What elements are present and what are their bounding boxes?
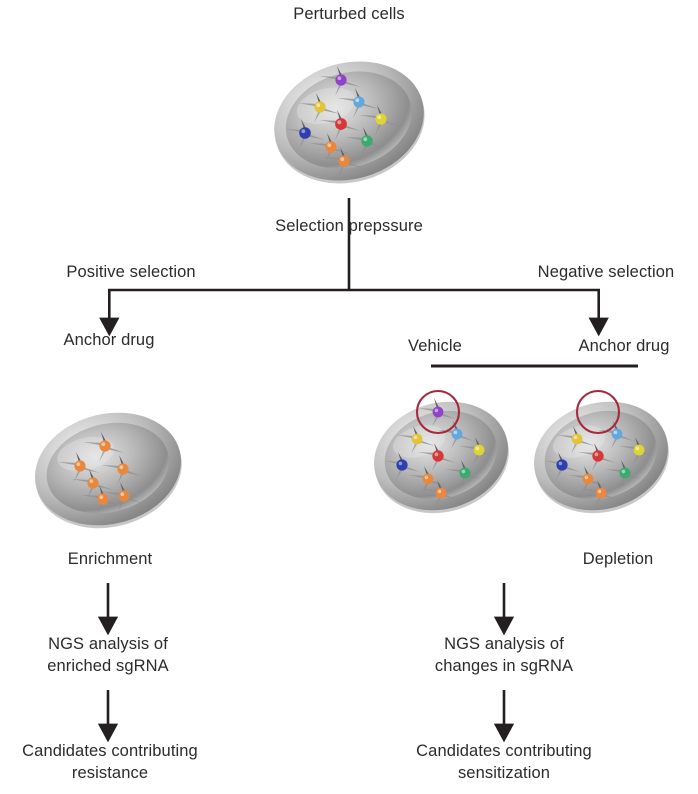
candidates-sensitization-line2: sensitization (458, 763, 550, 784)
negative-selection-label: Negative selection (538, 262, 675, 283)
enrichment-label: Enrichment (68, 549, 152, 570)
page-title: Perturbed cells (293, 4, 405, 25)
depletion-dish (522, 380, 680, 532)
ngs-enriched-line2: enriched sgRNA (47, 656, 169, 677)
ngs-enriched-line1: NGS analysis of (48, 634, 168, 655)
enrichment-dish (22, 396, 194, 542)
perturbed-cells-dish (261, 42, 437, 200)
candidates-sensitization-line1: Candidates contributing (416, 741, 592, 762)
candidates-resistance-line2: resistance (72, 763, 148, 784)
ngs-changes-line1: NGS analysis of (444, 634, 564, 655)
positive-selection-label: Positive selection (66, 262, 195, 283)
ngs-changes-line2: changes in sgRNA (435, 656, 573, 677)
depletion-label: Depletion (583, 549, 654, 570)
selection-pressure-label: Selection prepssure (275, 216, 423, 237)
anchor-drug-right-label: Anchor drug (579, 336, 670, 357)
candidates-resistance-line1: Candidates contributing (22, 741, 198, 762)
anchor-drug-left-label: Anchor drug (64, 330, 155, 351)
vehicle-label: Vehicle (408, 336, 462, 357)
vehicle-dish (362, 380, 520, 532)
